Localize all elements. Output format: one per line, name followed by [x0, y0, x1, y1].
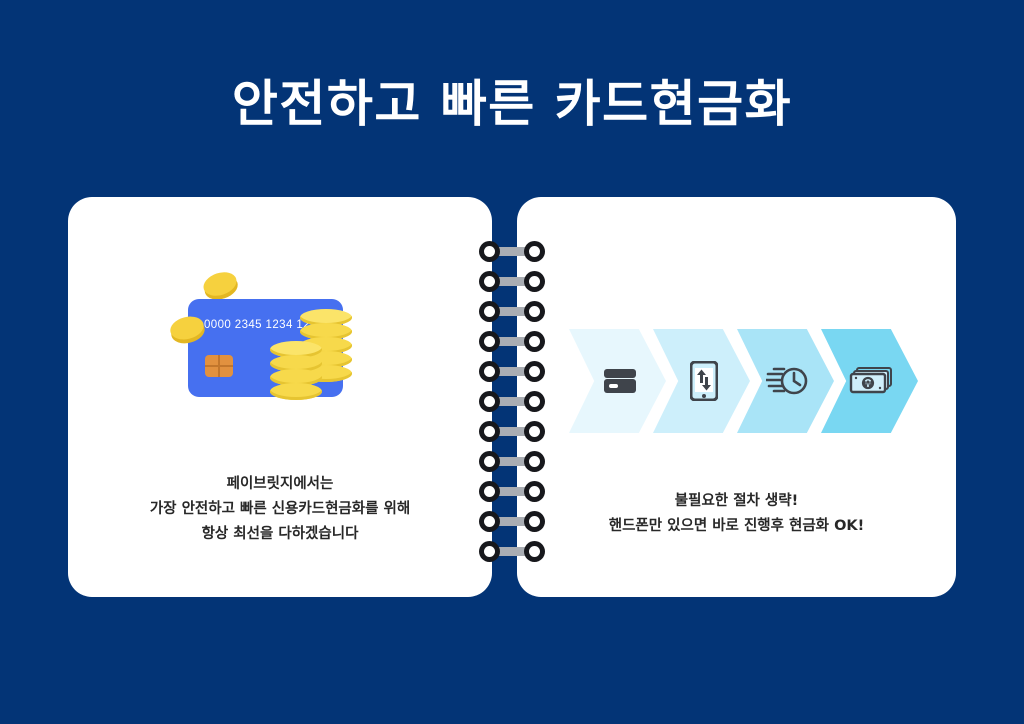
spiral-ring — [479, 421, 545, 442]
right-caption-line-2: 핸드폰만 있으면 바로 진행후 현금화 OK! — [517, 514, 956, 539]
spiral-ring — [479, 301, 545, 322]
banknote-won-icon: ₩ — [845, 366, 895, 396]
left-caption-line-2: 가장 안전하고 빠른 신용카드현금화를 위해 — [68, 497, 492, 522]
spiral-ring — [479, 451, 545, 472]
right-page-caption: 불필요한 절차 생략! 핸드폰만 있으면 바로 진행후 현금화 OK! — [517, 489, 956, 539]
coin-stack-short-icon — [270, 341, 322, 399]
flow-step-2-chevron — [653, 329, 750, 433]
spiral-ring — [479, 361, 545, 382]
spiral-ring — [479, 481, 545, 502]
left-caption-line-3: 항상 최선을 다하겠습니다 — [68, 522, 492, 547]
page-title: 안전하고 빠른 카드현금화 — [0, 74, 1024, 134]
flow-step-4-chevron: ₩ — [821, 329, 918, 433]
spiral-ring — [479, 391, 545, 412]
credit-card-illustration: 0000 2345 1234 1234 — [170, 267, 390, 427]
spiral-ring — [479, 331, 545, 352]
flow-step-1-chevron — [569, 329, 666, 433]
spiral-ring — [479, 511, 545, 532]
svg-text:₩: ₩ — [863, 380, 873, 390]
credit-card-icon — [599, 368, 637, 394]
spiral-binding — [479, 241, 545, 561]
notebook-left-page: 0000 2345 1234 1234 페이브릿지에서는 가장 안전하고 빠른 … — [68, 197, 492, 597]
notebook-right-page: ₩ 불필요한 절차 생략! 핸드폰만 있으면 바로 진행후 현금화 OK! — [517, 197, 956, 597]
notebook: 0000 2345 1234 1234 페이브릿지에서는 가장 안전하고 빠른 … — [68, 197, 956, 597]
process-flow-diagram: ₩ — [569, 329, 909, 433]
mobile-transfer-icon — [686, 361, 718, 401]
left-caption-line-1: 페이브릿지에서는 — [68, 472, 492, 497]
right-caption-line-1: 불필요한 절차 생략! — [517, 489, 956, 514]
fast-clock-icon — [762, 365, 810, 397]
flow-step-3-chevron — [737, 329, 834, 433]
spiral-ring — [479, 541, 545, 562]
spiral-ring — [479, 271, 545, 292]
flying-coin-1-icon — [200, 268, 239, 299]
card-chip-icon — [205, 355, 233, 377]
spiral-ring — [479, 241, 545, 262]
left-page-caption: 페이브릿지에서는 가장 안전하고 빠른 신용카드현금화를 위해 항상 최선을 다… — [68, 472, 492, 547]
